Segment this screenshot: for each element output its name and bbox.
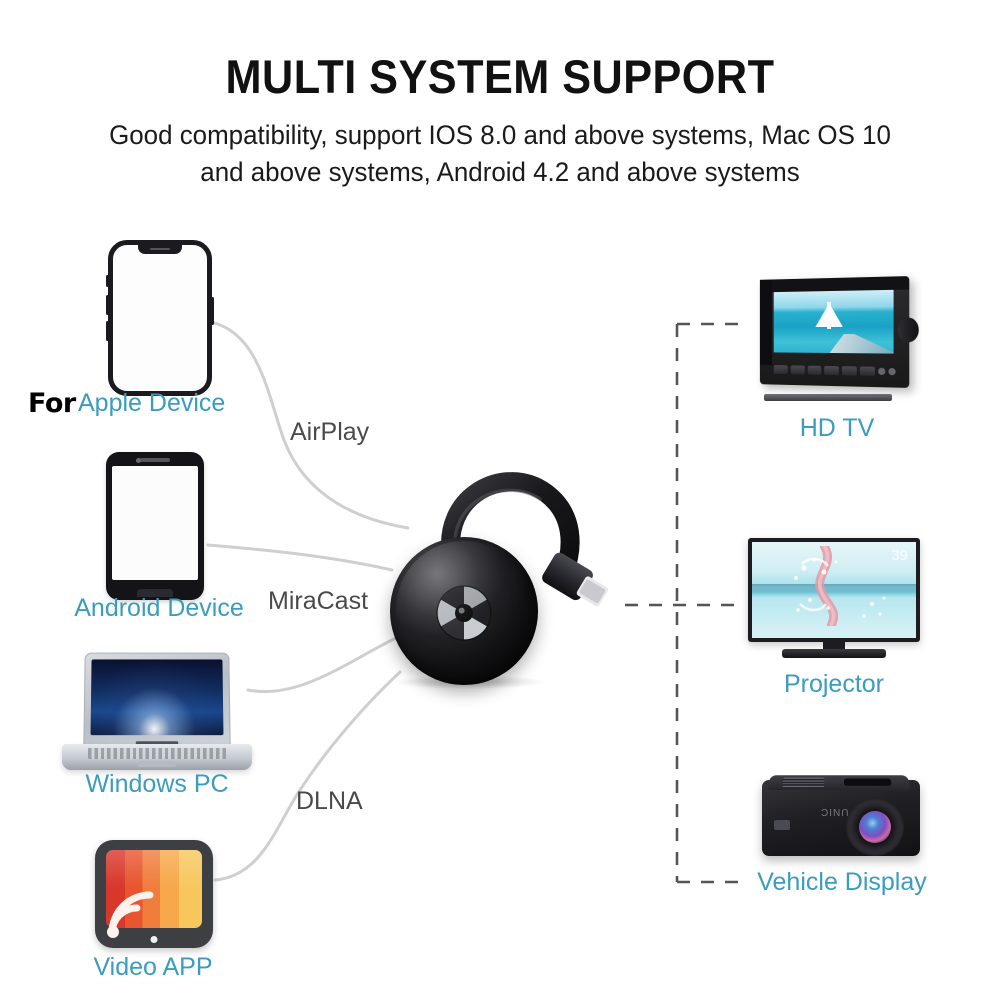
android-phone-icon <box>106 452 204 600</box>
protocol-label-dlna: DLNA <box>296 787 363 816</box>
android-screen <box>112 466 198 580</box>
car-monitor-icon <box>752 278 922 396</box>
projector-top-panel <box>768 775 910 790</box>
monitor-button-row[interactable] <box>774 363 896 377</box>
tv-frame: 39 <box>748 538 920 642</box>
header-block: MULTI SYSTEM SUPPORT Good compatibility,… <box>0 52 1000 190</box>
caption-windows-pc: Windows PC <box>62 772 252 797</box>
monitor-button[interactable] <box>860 366 875 375</box>
wire-android <box>208 545 392 570</box>
projector-body: UNIC <box>762 780 920 856</box>
iphone-icon <box>108 240 212 396</box>
iphone-volume-down <box>106 321 109 341</box>
wire-laptop <box>248 638 396 692</box>
tv-stand-base <box>782 649 886 658</box>
aperture-shutter-icon <box>434 583 494 643</box>
projector-focus-slot <box>844 778 892 785</box>
monitor-mount-knob <box>898 317 919 342</box>
iphone-notch <box>138 245 182 254</box>
monitor-button[interactable] <box>774 365 788 374</box>
caption-android-device: Android Device <box>64 596 254 621</box>
iphone-mute-switch <box>106 275 109 287</box>
projector-vent-grille <box>782 778 824 788</box>
android-speaker-slot <box>140 458 170 462</box>
monitor-sun-hood-left <box>760 280 772 366</box>
monitor-button[interactable] <box>842 366 857 375</box>
cast-waves-icon <box>106 889 160 939</box>
video-app-icon <box>95 840 213 948</box>
monitor-screen <box>774 290 894 354</box>
caption-vehicle-display: Vehicle Display <box>742 870 942 895</box>
monitor-indicator-led <box>878 367 885 374</box>
monitor-ir-sensor <box>888 367 895 374</box>
monitor-button[interactable] <box>790 365 804 374</box>
monitor-body <box>760 276 909 388</box>
protocol-label-airplay: AirPlay <box>290 418 369 447</box>
flat-tv-icon: 39 <box>748 538 920 664</box>
page-subtitle: Good compatibility, support IOS 8.0 and … <box>106 117 893 190</box>
dongle-disc <box>390 537 538 685</box>
wireless-display-dongle <box>378 455 628 685</box>
tv-screen: 39 <box>752 542 916 638</box>
laptop-keyboard <box>88 748 226 759</box>
mini-projector-icon: UNIC <box>762 772 920 868</box>
laptop-trackpad <box>138 761 176 767</box>
pier-dock <box>830 332 894 354</box>
infographic-canvas: MULTI SYSTEM SUPPORT Good compatibility,… <box>0 0 1000 1000</box>
page-title: MULTI SYSTEM SUPPORT <box>40 52 960 101</box>
dongle-shadow <box>394 675 544 689</box>
caption-hd-tv: HD TV <box>752 416 922 441</box>
sail-right <box>831 306 843 327</box>
laptop-base <box>62 744 252 770</box>
projector-lens-glass <box>859 811 891 843</box>
for-prefix-label: For <box>28 388 76 419</box>
monitor-button[interactable] <box>825 365 840 374</box>
projector-lens <box>846 798 904 856</box>
caption-apple-device: Apple Device <box>78 391 225 416</box>
caption-video-app: Video APP <box>58 955 248 980</box>
projector-brand-label: UNIC <box>820 806 848 817</box>
laptop-screen <box>91 659 224 735</box>
screen-size-badge: 39 <box>891 547 908 564</box>
iphone-power-button <box>211 297 214 325</box>
video-app-home-dot <box>151 936 158 943</box>
protocol-label-miracast: MiraCast <box>268 587 368 616</box>
monitor-foot <box>764 394 892 401</box>
projector-side-port <box>774 820 790 830</box>
iphone-volume-up <box>106 295 109 315</box>
monitor-button[interactable] <box>807 365 821 374</box>
laptop-lid <box>83 653 230 749</box>
android-front-camera <box>136 458 141 463</box>
laptop-icon <box>62 652 252 776</box>
caption-projector: Projector <box>748 672 920 697</box>
